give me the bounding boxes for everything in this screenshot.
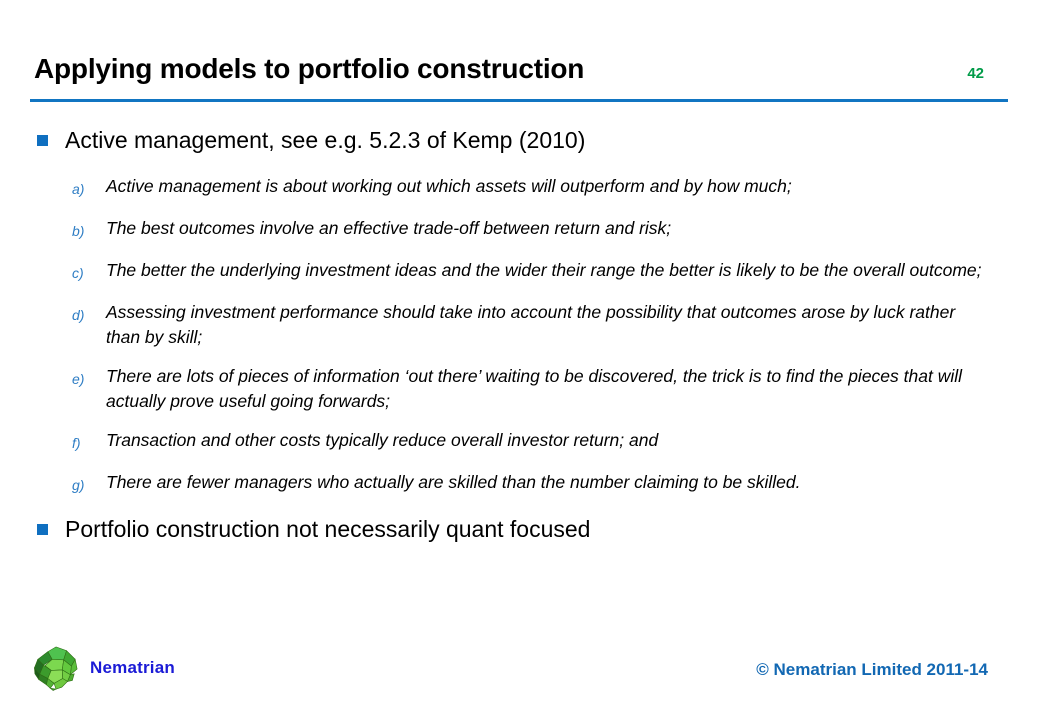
list-item-text: The better the underlying investment ide… — [106, 258, 982, 283]
square-bullet-icon — [37, 135, 48, 146]
page-number: 42 — [967, 52, 1006, 91]
list-item: b) The best outcomes involve an effectiv… — [30, 216, 1010, 244]
list-marker: a) — [72, 174, 106, 202]
list-item-text: Assessing investment performance should … — [106, 300, 986, 350]
list-item-text: Transaction and other costs typically re… — [106, 428, 658, 453]
bullet-level1-label: Portfolio construction not necessarily q… — [65, 515, 590, 544]
list-item: g) There are fewer managers who actually… — [30, 470, 1010, 498]
list-item-text: There are fewer managers who actually ar… — [106, 470, 801, 495]
lettered-sublist: a) Active management is about working ou… — [30, 174, 1010, 498]
bullet-level1-portfolio-construction: Portfolio construction not necessarily q… — [30, 515, 1010, 544]
slide: Applying models to portfolio constructio… — [0, 0, 1040, 720]
list-marker: g) — [72, 470, 106, 498]
slide-footer: Nematrian © Nematrian Limited 2011-14 — [0, 636, 1040, 720]
title-row: Applying models to portfolio constructio… — [34, 52, 1006, 96]
brand-logo: Nematrian — [32, 644, 175, 692]
list-marker: f) — [72, 428, 106, 456]
polyhedron-logo-icon — [32, 644, 80, 692]
list-marker: b) — [72, 216, 106, 244]
list-marker: e) — [72, 364, 106, 392]
title-divider — [30, 99, 1008, 102]
list-item-text: There are lots of pieces of information … — [106, 364, 986, 414]
brand-name: Nematrian — [90, 658, 175, 678]
list-item-text: The best outcomes involve an effective t… — [106, 216, 671, 241]
spacer — [30, 286, 1010, 300]
list-item: a) Active management is about working ou… — [30, 174, 1010, 202]
spacer — [30, 414, 1010, 428]
spacer — [30, 350, 1010, 364]
bullet-level1-label: Active management, see e.g. 5.2.3 of Kem… — [65, 126, 585, 155]
spacer — [30, 155, 1010, 174]
copyright-notice: © Nematrian Limited 2011-14 — [756, 660, 988, 680]
slide-body: Active management, see e.g. 5.2.3 of Kem… — [30, 126, 1010, 544]
list-marker: d) — [72, 300, 106, 328]
list-item-text: Active management is about working out w… — [106, 174, 792, 199]
spacer — [30, 456, 1010, 470]
list-item: c) The better the underlying investment … — [30, 258, 1010, 286]
list-item: e) There are lots of pieces of informati… — [30, 364, 1010, 414]
list-item: d) Assessing investment performance shou… — [30, 300, 1010, 350]
list-item: f) Transaction and other costs typically… — [30, 428, 1010, 456]
page-title: Applying models to portfolio constructio… — [34, 52, 584, 86]
spacer — [30, 202, 1010, 216]
square-bullet-icon — [37, 524, 48, 535]
list-marker: c) — [72, 258, 106, 286]
spacer — [30, 244, 1010, 258]
spacer — [30, 498, 1010, 515]
bullet-level1-active-management: Active management, see e.g. 5.2.3 of Kem… — [30, 126, 1010, 155]
